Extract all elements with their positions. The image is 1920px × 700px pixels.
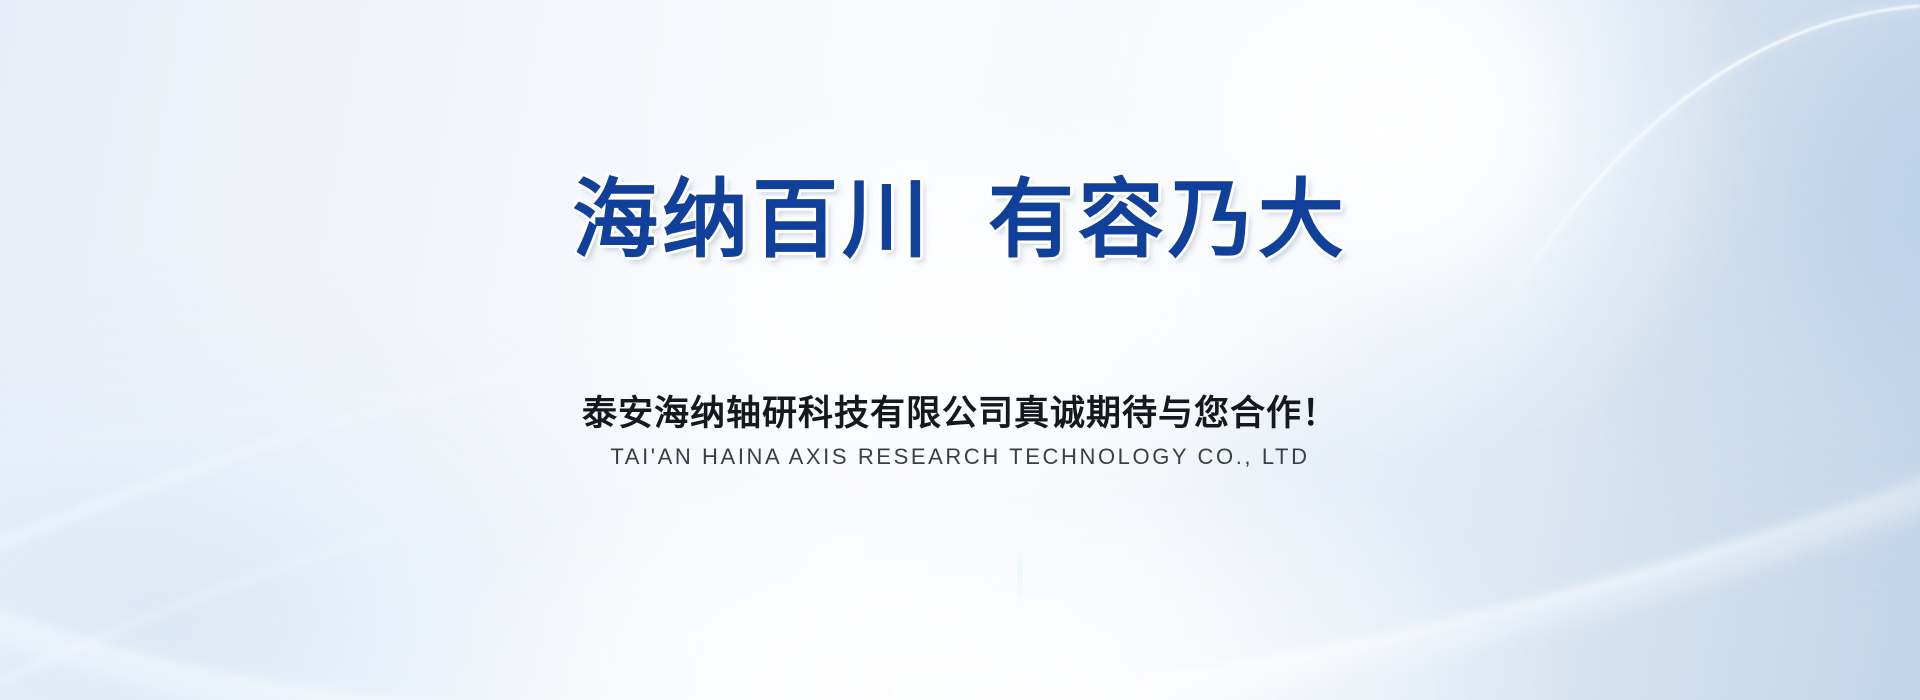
right-edge-blue-glow (1560, 0, 1920, 580)
bottom-sweep-arc (0, 470, 1920, 700)
lower-left-glow (0, 300, 660, 700)
bottom-sweep-arc-halo (0, 482, 1920, 700)
banner-english-company-name: TAI'AN HAINA AXIS RESEARCH TECHNOLOGY CO… (0, 444, 1920, 470)
light-flare-speck (1018, 551, 1023, 599)
light-flare-speck-right (1713, 573, 1718, 617)
banner-headline: 海纳百川 有容乃大 (0, 172, 1920, 268)
banner-subline: 泰安海纳轴研科技有限公司真诚期待与您合作！ (0, 385, 1920, 436)
hero-banner: 海纳百川 有容乃大 泰安海纳轴研科技有限公司真诚期待与您合作！ TAI'AN H… (0, 0, 1920, 700)
bottom-center-glow (380, 430, 1580, 700)
decorative-arcs (0, 0, 1920, 700)
lower-left-streak-secondary (0, 486, 560, 700)
